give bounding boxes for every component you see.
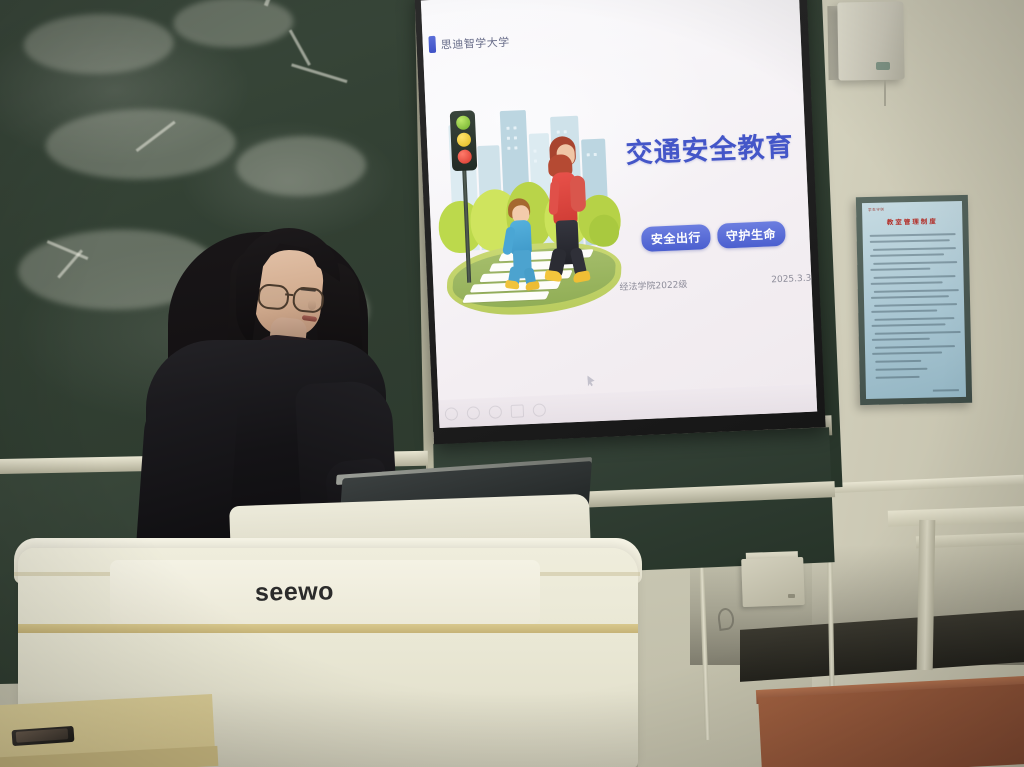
wall-speaker <box>837 1 904 80</box>
slide-logo: 思迪智学大学 <box>428 33 510 54</box>
woman-walking <box>537 135 597 285</box>
chalk-smudge <box>236 135 367 197</box>
mouse-cursor-icon <box>587 375 594 386</box>
poster-header: 学生守则 <box>868 208 885 213</box>
podium-brand-label: seewo <box>255 577 334 607</box>
traffic-light-green <box>455 115 470 130</box>
slide-badges: 安全出行 守护生命 <box>623 220 804 253</box>
brand-bookmark-icon <box>428 36 436 53</box>
wall-shelf-leg <box>917 520 936 670</box>
woman-backpack <box>570 175 587 212</box>
poster-signature <box>933 389 959 392</box>
regulations-poster: 学生守则 教室管理制度 <box>862 201 966 399</box>
boy-shoe-front <box>525 281 540 291</box>
wall-electrical-box[interactable] <box>741 557 805 607</box>
refresh-icon[interactable] <box>467 406 481 420</box>
back-icon[interactable] <box>445 407 459 421</box>
menu-icon[interactable] <box>533 403 547 417</box>
slide-title: 交通安全教育 <box>619 124 801 171</box>
slide-badge-2: 守护生命 <box>716 221 785 249</box>
glasses-lens-left <box>257 283 290 311</box>
wooden-table <box>758 682 1024 767</box>
home-icon[interactable] <box>489 405 503 419</box>
electrical-box-latch-icon[interactable] <box>788 594 795 598</box>
slide-badge-1: 安全出行 <box>641 224 710 252</box>
slide-footer-left: 经法学院2022级 <box>619 277 687 293</box>
classroom-scene: 学生守则 教室管理制度 思迪智学大学 <box>0 0 1024 767</box>
speaker-logo-icon <box>876 62 890 70</box>
window-icon[interactable] <box>511 404 525 418</box>
chalk-smudge <box>173 0 294 49</box>
display-screen[interactable]: 思迪智学大学 <box>421 0 817 428</box>
chalk-stroke <box>289 29 311 65</box>
poster-title: 教室管理制度 <box>862 215 962 227</box>
traffic-light-icon <box>450 110 478 171</box>
traffic-light-yellow <box>456 132 471 147</box>
presentation-slide[interactable]: 思迪智学大学 <box>421 0 816 400</box>
chalk-stroke <box>291 63 347 83</box>
pedestrians-crosswalk-illustration <box>431 88 629 328</box>
boy-walking <box>500 197 544 291</box>
glasses-icon <box>257 283 327 311</box>
slide-logo-text: 思迪智学大学 <box>440 33 510 52</box>
chalk-smudge <box>23 13 174 76</box>
speaker-wire <box>884 80 886 106</box>
slide-footer-right: 2025.3.3 <box>771 273 811 285</box>
podium-accent-stripe <box>18 624 638 633</box>
slide-footer: 经法学院2022级 2025.3.3 <box>619 272 811 293</box>
glasses-lens-right <box>292 286 325 314</box>
traffic-light-red <box>457 149 472 164</box>
